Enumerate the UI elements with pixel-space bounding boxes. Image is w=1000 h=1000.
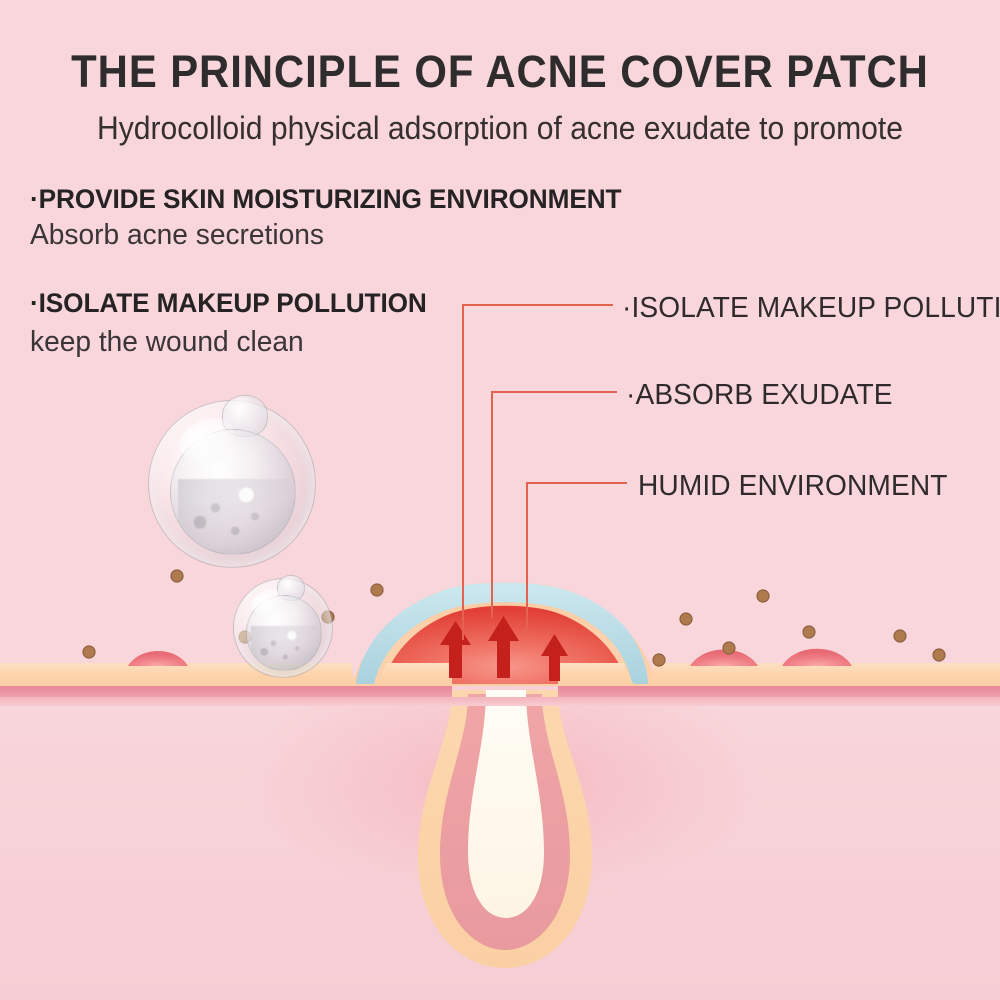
benefit-heading-1: ·PROVIDE SKIN MOISTURIZING ENVIRONMENT <box>30 184 621 215</box>
callout-label-humid-environment: HUMID ENVIRONMENT <box>638 470 948 503</box>
benefit-description-1: Absorb acne secretions <box>30 219 324 252</box>
callout-label-absorb-exudate: ·ABSORB EXUDATE <box>626 379 893 412</box>
surface-bump <box>128 651 188 666</box>
benefit-heading-2: ·ISOLATE MAKEUP POLLUTION <box>30 288 427 319</box>
page-title: THE PRINCIPLE OF ACNE COVER PATCH <box>35 46 965 98</box>
infographic-poster: THE PRINCIPLE OF ACNE COVER PATCH Hydroc… <box>0 0 1000 1000</box>
page-subtitle: Hydrocolloid physical adsorption of acne… <box>30 110 970 147</box>
water-droplet-small <box>233 578 333 678</box>
callout-label-isolate-makeup-pollution: ·ISOLATE MAKEUP POLLUTION <box>622 292 1000 325</box>
surface-bump <box>782 649 852 666</box>
dermis-lower-band <box>0 697 1000 706</box>
water-droplet-large <box>148 400 316 568</box>
benefit-description-2: keep the wound clean <box>30 326 304 359</box>
